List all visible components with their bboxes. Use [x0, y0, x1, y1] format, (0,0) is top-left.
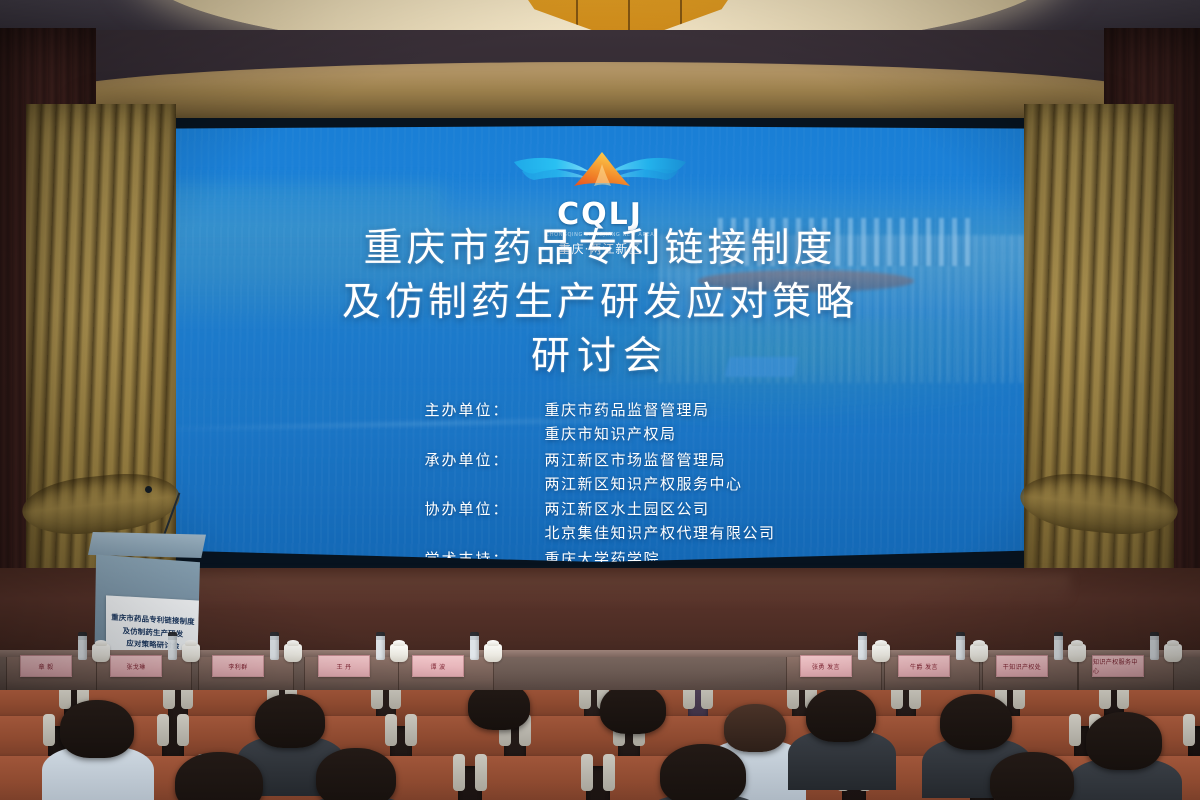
name-card: 王 丹	[318, 655, 370, 677]
microphone-icon	[145, 486, 152, 493]
conference-hall-photo: CQLJ CHONGQING LIANGJIANG NEW AREA 重庆·两江…	[0, 0, 1200, 800]
audience-person-head	[255, 694, 325, 748]
water-bottle	[168, 632, 177, 660]
audience-person-head	[990, 752, 1074, 800]
audience-person-head	[468, 690, 530, 730]
curtain-tieback	[1018, 468, 1181, 540]
title-line-1: 重庆市药品专利链接制度	[110, 222, 1090, 276]
water-bottle	[956, 632, 965, 660]
name-card: 知识产权服务中心	[1092, 655, 1144, 677]
audience-person-head	[1086, 712, 1162, 770]
org-row: 协办单位： 两江新区水土园区公司 北京集佳知识产权代理有限公司	[424, 497, 775, 546]
water-bottle	[376, 632, 385, 660]
tea-cup	[970, 644, 988, 662]
podium-top	[88, 532, 206, 558]
audience-seat	[482, 756, 586, 800]
curtain-tieback	[20, 468, 183, 540]
led-screen-frame: CQLJ CHONGQING LIANGJIANG NEW AREA 重庆·两江…	[96, 118, 1104, 570]
org-label: 协办单位：	[424, 497, 544, 521]
water-bottle	[270, 632, 279, 660]
water-bottle	[1054, 632, 1063, 660]
tea-cup	[390, 644, 408, 662]
water-bottle	[78, 632, 87, 660]
org-row: 主办单位： 重庆市药品监督管理局 重庆市知识产权局	[424, 398, 775, 447]
org-label: 主办单位：	[424, 398, 544, 422]
name-card: 章 毅	[20, 655, 72, 677]
audience-person-head	[940, 694, 1012, 750]
name-card: 牛爵 发言	[898, 655, 950, 677]
name-card: 张勇 发言	[800, 655, 852, 677]
water-bottle	[470, 632, 479, 660]
name-card: 干知识产权处	[996, 655, 1048, 677]
tea-cup	[92, 644, 110, 662]
event-title: 重庆市药品专利链接制度 及仿制药生产研发应对策略 研讨会	[110, 222, 1090, 383]
organization-list: 主办单位： 重庆市药品监督管理局 重庆市知识产权局 承办单位： 两江新区市场监督…	[110, 398, 1090, 562]
org-row: 学术支持： 重庆大学药学院	[424, 547, 775, 562]
audience-seating	[0, 690, 1200, 800]
water-bottle	[858, 632, 867, 660]
audience-person-head	[60, 700, 134, 758]
tea-cup	[182, 644, 200, 662]
stage-floor-sheen	[130, 574, 1070, 604]
tea-cup	[1164, 644, 1182, 662]
name-card: 李利群	[212, 655, 264, 677]
audience-person-head	[316, 748, 396, 800]
audience-person-head	[600, 690, 666, 734]
water-bottle	[1150, 632, 1159, 660]
audience-person-head	[660, 744, 746, 800]
org-values: 两江新区市场监督管理局 两江新区知识产权服务中心	[544, 448, 742, 497]
audience-person-head	[175, 752, 263, 800]
title-line-3: 研讨会	[110, 330, 1090, 384]
org-label: 承办单位：	[424, 448, 544, 472]
tea-cup	[484, 644, 502, 662]
tea-cup	[284, 644, 302, 662]
org-label: 学术支持：	[424, 547, 544, 562]
org-row: 承办单位： 两江新区市场监督管理局 两江新区知识产权服务中心	[424, 448, 775, 497]
title-line-2: 及仿制药生产研发应对策略	[110, 276, 1090, 330]
audience-person-head	[806, 690, 876, 742]
led-screen: CQLJ CHONGQING LIANGJIANG NEW AREA 重庆·两江…	[110, 126, 1090, 562]
org-values: 两江新区水土园区公司 北京集佳知识产权代理有限公司	[544, 497, 775, 546]
tea-cup	[1068, 644, 1086, 662]
tea-cup	[872, 644, 890, 662]
right-curtain	[1024, 104, 1174, 628]
name-card: 谭 波	[412, 655, 464, 677]
audience-person-head	[724, 704, 786, 752]
org-values: 重庆市药品监督管理局 重庆市知识产权局	[544, 398, 709, 447]
bird-wing-icon	[510, 146, 690, 198]
org-values: 重庆大学药学院	[544, 547, 660, 562]
name-card: 张戈琳	[110, 655, 162, 677]
